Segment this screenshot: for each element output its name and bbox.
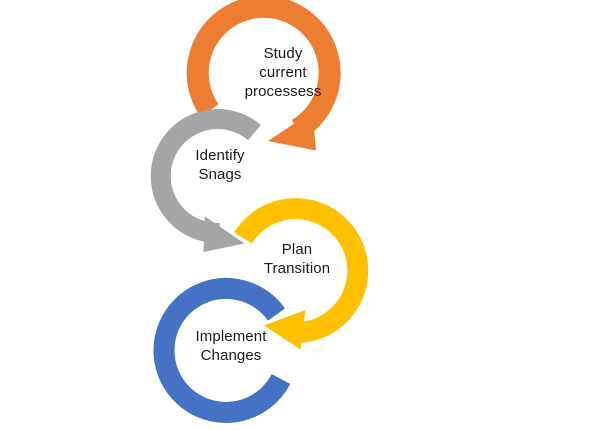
process-cycle-graphic	[0, 0, 600, 430]
step-2-arc	[161, 119, 255, 233]
process-cycle-diagram: Study current processess Identify Snags …	[0, 0, 600, 430]
step-4-blue-circular-arrow[interactable]	[164, 288, 281, 412]
step-1-arrowhead	[268, 112, 316, 151]
step-4-arc-upper	[164, 288, 281, 412]
step-3-yellow-circular-arrow[interactable]	[243, 209, 358, 350]
